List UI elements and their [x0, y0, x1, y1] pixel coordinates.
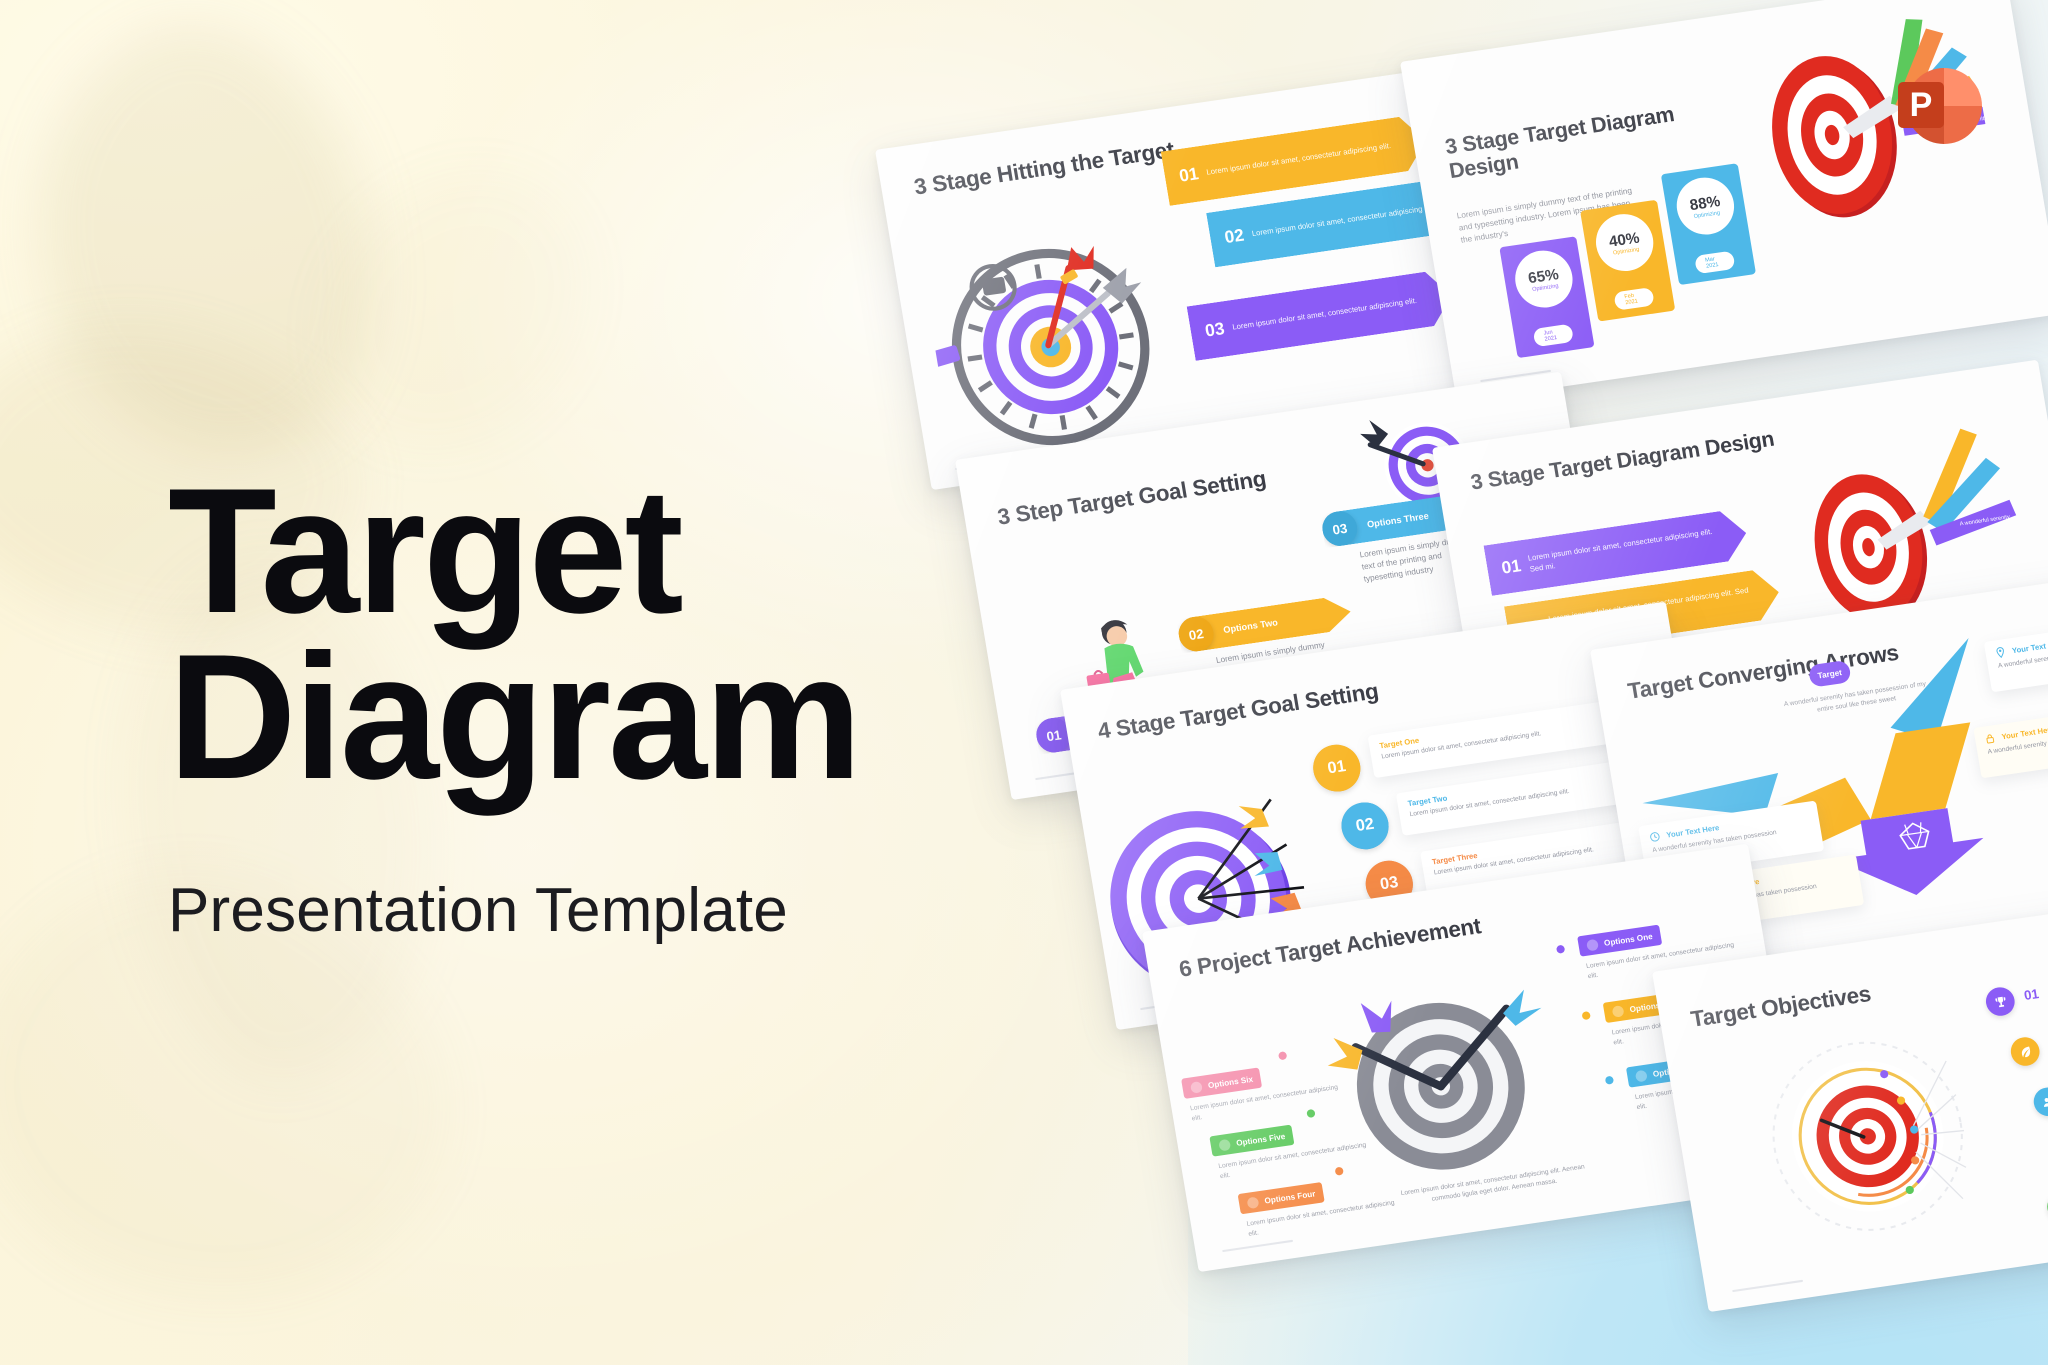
lock-icon	[1246, 1196, 1259, 1209]
slide-footer-rule	[1222, 1240, 1293, 1252]
option-tag[interactable]: Options Six	[1181, 1067, 1263, 1099]
banner-number: 02	[1223, 225, 1245, 248]
star-icon	[1586, 938, 1599, 951]
objective-item[interactable]	[2009, 1035, 2042, 1067]
step-label: Options Two	[1212, 617, 1278, 636]
stat-date: Feb 2021	[1613, 287, 1654, 311]
powerpoint-logo: P	[1888, 56, 1988, 156]
svg-text:P: P	[1910, 86, 1933, 124]
hero-text-block: Target Diagram Presentation Template	[0, 0, 920, 1365]
users-icon	[2032, 1086, 2048, 1118]
powerpoint-logo-icon: P	[1888, 56, 1988, 156]
option-dot	[1556, 945, 1565, 954]
option-dot	[1581, 1011, 1590, 1020]
stat-circle: 88% Optimizing	[1672, 174, 1738, 239]
leaf-icon	[2009, 1035, 2042, 1067]
stat-date: Jun 2021	[1533, 324, 1574, 348]
slide-title: 3 Stage Target Diagram Design	[1443, 99, 1703, 183]
stat-card[interactable]: 40% Optimizing Feb 2021	[1580, 200, 1675, 322]
option-label: Options Six	[1207, 1074, 1253, 1090]
step-label: Options Three	[1356, 511, 1429, 532]
objective-item[interactable]	[2032, 1086, 2048, 1118]
stat-date: Mar 2021	[1694, 251, 1735, 275]
step-number: 02	[1176, 614, 1216, 653]
dartboard-with-dart-icon	[916, 199, 1187, 464]
3d-dartboard-ribbons-icon: A wonderful serenity	[1704, 0, 2047, 265]
option-label: Options Four	[1264, 1189, 1316, 1205]
chart-icon	[1218, 1138, 1231, 1151]
red-target-gear-network-icon	[1745, 1015, 2002, 1259]
stat-circle: 65% Optimizing	[1511, 247, 1577, 312]
objective-number: 01	[2023, 986, 2040, 1003]
banner-text: Lorem ipsum dolor sit amet, consectetur …	[1527, 522, 1748, 576]
banner-item[interactable]: 03 Lorem ipsum dolor sit amet, consectet…	[1187, 269, 1457, 361]
stat-card[interactable]: 65% Optimizing Jun 2021	[1499, 236, 1594, 358]
page-title: Target Diagram	[168, 468, 859, 799]
option-dot	[1605, 1076, 1614, 1085]
banner-number: 01	[1500, 556, 1522, 579]
send-icon	[1612, 1005, 1625, 1018]
option-label: Options One	[1603, 931, 1653, 947]
stat-circle: 40% Optimizing	[1592, 210, 1658, 275]
refresh-icon	[1635, 1069, 1648, 1082]
banner-number: 03	[1204, 319, 1226, 342]
objective-item[interactable]	[1984, 985, 2017, 1017]
slide-footer-rule	[1732, 1280, 1803, 1292]
option-dot	[1306, 1109, 1315, 1118]
step-number: 03	[1320, 509, 1360, 548]
banner-text: Lorem ipsum dolor sit amet, consectetur …	[1232, 291, 1444, 333]
option-label: Options Five	[1235, 1131, 1285, 1147]
banner-text: Lorem ipsum dolor sit amet, consectetur …	[1206, 137, 1418, 179]
trophy-icon	[1984, 985, 2017, 1017]
banner-number: 01	[1178, 164, 1200, 187]
comment-icon	[1190, 1081, 1203, 1094]
page-subtitle: Presentation Template	[168, 875, 788, 946]
option-dot	[1278, 1051, 1287, 1060]
slide-title: 3 Step Target Goal Setting	[996, 457, 1333, 530]
